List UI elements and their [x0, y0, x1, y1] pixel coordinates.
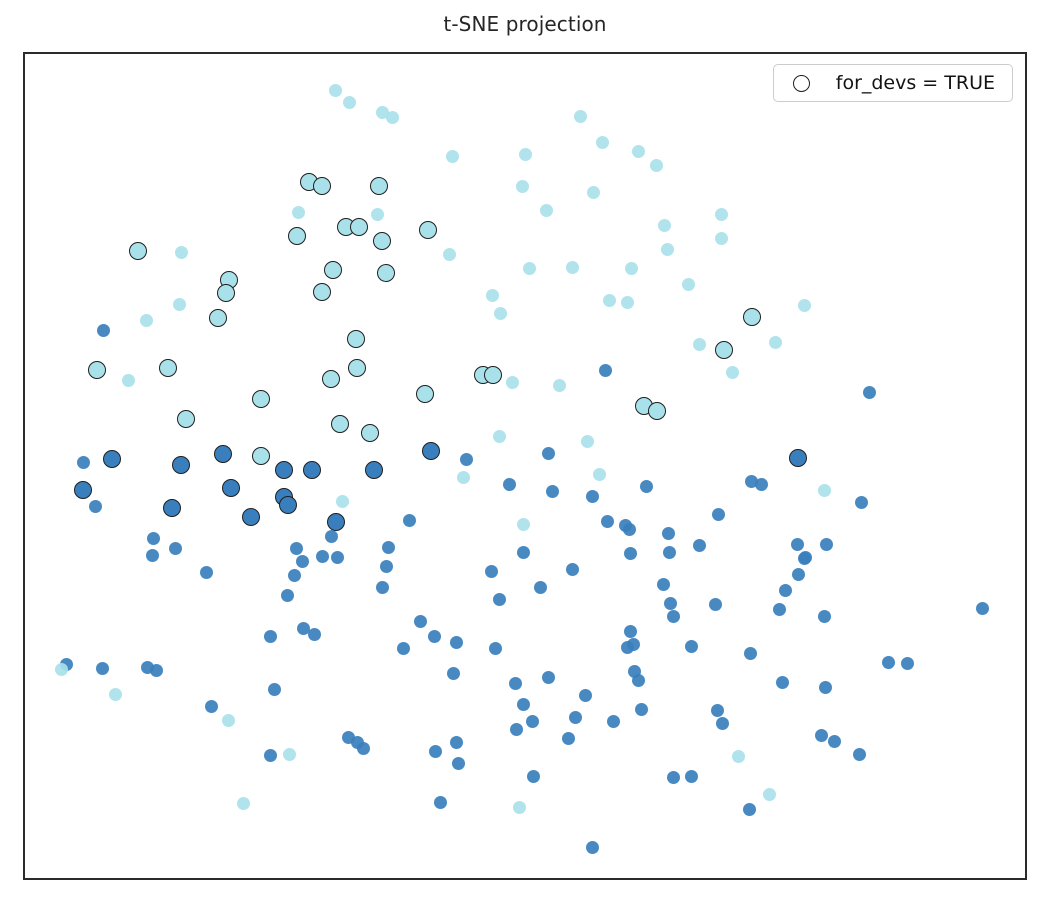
scatter-point-for-devs-false: [624, 547, 637, 560]
scatter-point-for-devs-false: [175, 246, 188, 259]
scatter-point-for-devs-false: [863, 386, 876, 399]
scatter-point-for-devs-false: [519, 148, 532, 161]
scatter-point-for-devs-false: [621, 296, 634, 309]
scatter-point-for-devs-false: [288, 569, 301, 582]
scatter-point-for-devs-false: [779, 584, 792, 597]
scatter-point-for-devs-false: [726, 366, 739, 379]
scatter-point-for-devs-false: [281, 589, 294, 602]
scatter-point-for-devs-true: [252, 390, 270, 408]
scatter-point-for-devs-false: [169, 542, 182, 555]
scatter-point-for-devs-true: [715, 341, 733, 359]
scatter-point-for-devs-false: [513, 801, 526, 814]
scatter-point-for-devs-true: [103, 450, 121, 468]
scatter-point-for-devs-false: [574, 110, 587, 123]
scatter-point-for-devs-true: [331, 415, 349, 433]
scatter-point-for-devs-true: [422, 442, 440, 460]
scatter-point-for-devs-false: [755, 478, 768, 491]
scatter-point-for-devs-false: [503, 478, 516, 491]
scatter-point-for-devs-false: [450, 636, 463, 649]
scatter-point-for-devs-false: [712, 508, 725, 521]
scatter-point-for-devs-true: [350, 218, 368, 236]
scatter-point-for-devs-false: [205, 700, 218, 713]
scatter-point-for-devs-false: [658, 219, 671, 232]
scatter-point-for-devs-false: [769, 336, 782, 349]
scatter-point-for-devs-false: [486, 289, 499, 302]
scatter-point-for-devs-true: [313, 177, 331, 195]
scatter-point-for-devs-true: [361, 424, 379, 442]
scatter-point-for-devs-false: [89, 500, 102, 513]
scatter-point-for-devs-false: [146, 549, 159, 562]
scatter-point-for-devs-false: [150, 664, 163, 677]
scatter-point-for-devs-false: [325, 530, 338, 543]
scatter-point-for-devs-false: [55, 663, 68, 676]
scatter-point-for-devs-false: [397, 642, 410, 655]
scatter-point-for-devs-false: [715, 208, 728, 221]
scatter-point-for-devs-true: [484, 366, 502, 384]
chart-title: t-SNE projection: [0, 12, 1050, 36]
scatter-point-for-devs-false: [109, 688, 122, 701]
scatter-point-for-devs-false: [329, 84, 342, 97]
scatter-points-layer: [25, 54, 1025, 878]
scatter-point-for-devs-false: [586, 490, 599, 503]
scatter-point-for-devs-false: [566, 261, 579, 274]
scatter-point-for-devs-false: [222, 714, 235, 727]
scatter-point-for-devs-false: [382, 541, 395, 554]
scatter-point-for-devs-false: [853, 748, 866, 761]
scatter-point-for-devs-false: [493, 430, 506, 443]
scatter-point-for-devs-true: [416, 385, 434, 403]
scatter-point-for-devs-false: [685, 770, 698, 783]
scatter-point-for-devs-false: [414, 615, 427, 628]
scatter-point-for-devs-false: [296, 555, 309, 568]
scatter-point-for-devs-false: [798, 299, 811, 312]
scatter-point-for-devs-false: [147, 532, 160, 545]
scatter-point-for-devs-false: [447, 667, 460, 680]
scatter-point-for-devs-false: [599, 364, 612, 377]
scatter-point-for-devs-false: [493, 593, 506, 606]
scatter-point-for-devs-false: [579, 689, 592, 702]
scatter-point-for-devs-false: [308, 628, 321, 641]
scatter-point-for-devs-false: [661, 243, 674, 256]
scatter-point-for-devs-true: [275, 461, 293, 479]
scatter-point-for-devs-false: [566, 563, 579, 576]
scatter-point-for-devs-false: [516, 180, 529, 193]
scatter-point-for-devs-true: [209, 309, 227, 327]
scatter-point-for-devs-false: [506, 376, 519, 389]
scatter-point-for-devs-true: [177, 410, 195, 428]
scatter-point-for-devs-true: [288, 227, 306, 245]
scatter-point-for-devs-true: [327, 513, 345, 531]
scatter-point-for-devs-false: [685, 640, 698, 653]
scatter-point-for-devs-true: [373, 232, 391, 250]
scatter-point-for-devs-false: [632, 674, 645, 687]
scatter-point-for-devs-false: [882, 656, 895, 669]
scatter-point-for-devs-true: [313, 283, 331, 301]
scatter-point-for-devs-false: [640, 480, 653, 493]
scatter-point-for-devs-false: [743, 803, 756, 816]
scatter-point-for-devs-true: [365, 461, 383, 479]
scatter-point-for-devs-true: [789, 449, 807, 467]
scatter-point-for-devs-false: [510, 723, 523, 736]
scatter-point-for-devs-true: [377, 264, 395, 282]
scatter-point-for-devs-true: [163, 499, 181, 517]
scatter-point-for-devs-false: [818, 610, 831, 623]
scatter-point-for-devs-false: [517, 546, 530, 559]
scatter-point-for-devs-false: [77, 456, 90, 469]
scatter-point-for-devs-false: [443, 248, 456, 261]
scatter-point-for-devs-false: [621, 641, 634, 654]
scatter-point-for-devs-false: [534, 581, 547, 594]
scatter-point-for-devs-false: [283, 748, 296, 761]
scatter-point-for-devs-false: [976, 602, 989, 615]
scatter-point-for-devs-false: [450, 736, 463, 749]
scatter-point-for-devs-false: [343, 96, 356, 109]
scatter-point-for-devs-false: [264, 749, 277, 762]
scatter-point-for-devs-false: [664, 597, 677, 610]
scatter-point-for-devs-false: [542, 447, 555, 460]
scatter-point-for-devs-false: [517, 518, 530, 531]
scatter-point-for-devs-false: [140, 314, 153, 327]
scatter-point-for-devs-false: [667, 771, 680, 784]
scatter-point-for-devs-false: [682, 278, 695, 291]
scatter-point-for-devs-false: [96, 662, 109, 675]
scatter-point-for-devs-false: [818, 484, 831, 497]
scatter-point-for-devs-false: [290, 542, 303, 555]
scatter-point-for-devs-false: [403, 514, 416, 527]
scatter-point-for-devs-false: [603, 294, 616, 307]
scatter-point-for-devs-false: [517, 698, 530, 711]
scatter-point-for-devs-false: [792, 568, 805, 581]
scatter-point-for-devs-false: [316, 550, 329, 563]
scatter-point-for-devs-true: [322, 370, 340, 388]
scatter-point-for-devs-false: [596, 136, 609, 149]
scatter-point-for-devs-true: [252, 447, 270, 465]
scatter-point-for-devs-false: [709, 598, 722, 611]
scatter-point-for-devs-false: [667, 610, 680, 623]
scatter-point-for-devs-false: [523, 262, 536, 275]
scatter-point-for-devs-false: [593, 468, 606, 481]
scatter-point-for-devs-false: [173, 298, 186, 311]
scatter-point-for-devs-false: [693, 338, 706, 351]
scatter-point-for-devs-false: [376, 581, 389, 594]
scatter-point-for-devs-false: [581, 435, 594, 448]
scatter-point-for-devs-false: [901, 657, 914, 670]
scatter-point-for-devs-false: [336, 495, 349, 508]
scatter-point-for-devs-false: [607, 715, 620, 728]
scatter-point-for-devs-false: [662, 527, 675, 540]
scatter-point-for-devs-false: [819, 681, 832, 694]
scatter-point-for-devs-false: [820, 538, 833, 551]
scatter-point-for-devs-false: [562, 732, 575, 745]
scatter-point-for-devs-false: [457, 471, 470, 484]
scatter-point-for-devs-false: [526, 715, 539, 728]
scatter-point-for-devs-true: [648, 402, 666, 420]
scatter-point-for-devs-false: [586, 841, 599, 854]
scatter-point-for-devs-false: [292, 206, 305, 219]
scatter-point-for-devs-false: [489, 642, 502, 655]
scatter-point-for-devs-true: [324, 261, 342, 279]
scatter-point-for-devs-true: [348, 359, 366, 377]
scatter-point-for-devs-false: [264, 630, 277, 643]
scatter-point-for-devs-true: [222, 479, 240, 497]
scatter-point-for-devs-false: [763, 788, 776, 801]
scatter-point-for-devs-false: [635, 703, 648, 716]
scatter-point-for-devs-false: [663, 546, 676, 559]
scatter-point-for-devs-false: [494, 307, 507, 320]
scatter-point-for-devs-false: [587, 186, 600, 199]
scatter-point-for-devs-false: [657, 578, 670, 591]
scatter-point-for-devs-false: [632, 145, 645, 158]
scatter-point-for-devs-false: [371, 208, 384, 221]
scatter-point-for-devs-false: [693, 539, 706, 552]
scatter-point-for-devs-false: [711, 704, 724, 717]
scatter-point-for-devs-true: [279, 496, 297, 514]
scatter-point-for-devs-true: [159, 359, 177, 377]
scatter-point-for-devs-true: [214, 445, 232, 463]
scatter-point-for-devs-false: [542, 671, 555, 684]
scatter-point-for-devs-false: [601, 515, 614, 528]
scatter-point-for-devs-false: [855, 496, 868, 509]
scatter-point-for-devs-false: [429, 745, 442, 758]
scatter-point-for-devs-false: [625, 262, 638, 275]
scatter-point-for-devs-false: [546, 485, 559, 498]
scatter-point-for-devs-false: [509, 677, 522, 690]
scatter-point-for-devs-false: [428, 630, 441, 643]
tsne-figure: t-SNE projection for_devs = TRUE: [0, 0, 1050, 900]
scatter-point-for-devs-false: [527, 770, 540, 783]
scatter-point-for-devs-true: [743, 308, 761, 326]
scatter-point-for-devs-false: [773, 603, 786, 616]
scatter-point-for-devs-false: [791, 538, 804, 551]
scatter-point-for-devs-false: [815, 729, 828, 742]
scatter-point-for-devs-true: [242, 508, 260, 526]
scatter-point-for-devs-false: [650, 159, 663, 172]
scatter-point-for-devs-false: [351, 736, 364, 749]
scatter-point-for-devs-false: [237, 797, 250, 810]
scatter-point-for-devs-false: [828, 735, 841, 748]
legend-label: for_devs = TRUE: [836, 72, 999, 94]
scatter-point-for-devs-true: [129, 242, 147, 260]
scatter-point-for-devs-true: [419, 221, 437, 239]
scatter-point-for-devs-false: [540, 204, 553, 217]
legend: for_devs = TRUE: [773, 64, 1013, 102]
scatter-point-for-devs-false: [716, 717, 729, 730]
scatter-point-for-devs-true: [74, 481, 92, 499]
scatter-point-for-devs-false: [200, 566, 213, 579]
scatter-point-for-devs-false: [460, 453, 473, 466]
scatter-point-for-devs-false: [386, 111, 399, 124]
scatter-point-for-devs-false: [619, 519, 632, 532]
scatter-point-for-devs-true: [217, 284, 235, 302]
scatter-point-for-devs-false: [799, 551, 812, 564]
scatter-point-for-devs-true: [303, 461, 321, 479]
scatter-point-for-devs-false: [624, 625, 637, 638]
scatter-point-for-devs-false: [268, 683, 281, 696]
scatter-point-for-devs-true: [88, 361, 106, 379]
legend-marker-circle-icon: [793, 75, 810, 92]
scatter-point-for-devs-false: [715, 232, 728, 245]
scatter-point-for-devs-false: [776, 676, 789, 689]
scatter-point-for-devs-false: [331, 551, 344, 564]
scatter-point-for-devs-false: [485, 565, 498, 578]
plot-area: for_devs = TRUE: [23, 52, 1027, 880]
scatter-point-for-devs-true: [370, 177, 388, 195]
scatter-point-for-devs-true: [347, 330, 365, 348]
scatter-point-for-devs-false: [452, 757, 465, 770]
scatter-point-for-devs-false: [380, 560, 393, 573]
scatter-point-for-devs-false: [732, 750, 745, 763]
scatter-point-for-devs-false: [97, 324, 110, 337]
scatter-point-for-devs-false: [553, 379, 566, 392]
scatter-point-for-devs-false: [434, 796, 447, 809]
scatter-point-for-devs-false: [744, 647, 757, 660]
scatter-point-for-devs-false: [446, 150, 459, 163]
scatter-point-for-devs-true: [172, 456, 190, 474]
scatter-point-for-devs-false: [122, 374, 135, 387]
scatter-point-for-devs-false: [569, 711, 582, 724]
